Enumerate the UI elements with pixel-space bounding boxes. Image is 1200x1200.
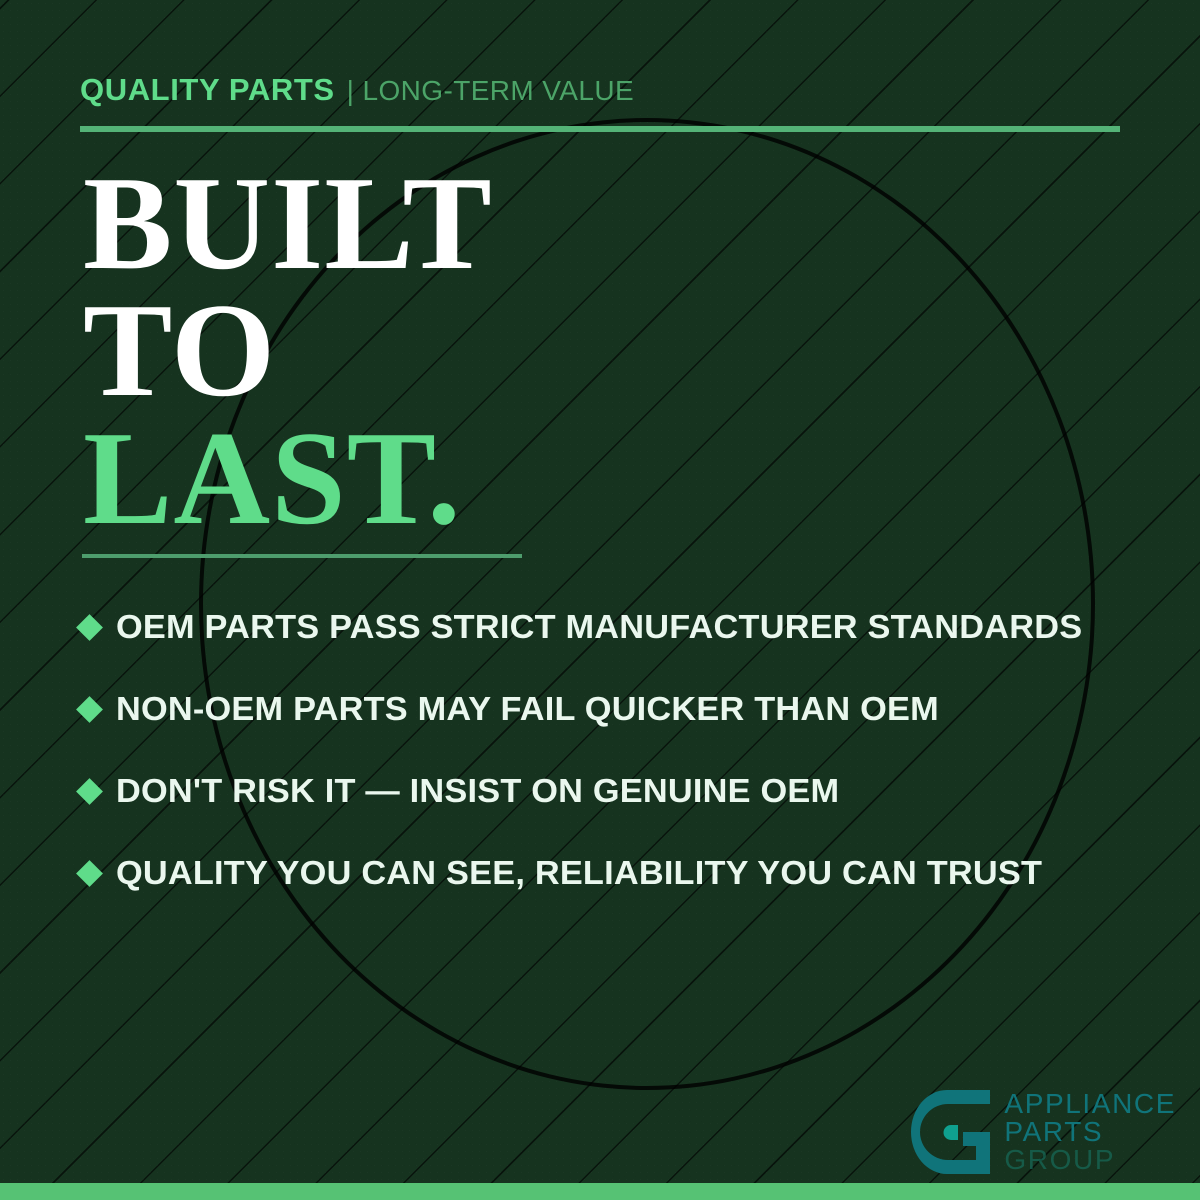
headline-line-3: LAST. (83, 415, 493, 542)
headline-divider-rule (82, 554, 522, 558)
list-item-label: QUALITY YOU CAN SEE, RELIABILITY YOU CAN… (116, 854, 1042, 892)
list-item: NON-OEM PARTS MAY FAIL QUICKER THAN OEM (80, 668, 1160, 750)
diamond-bullet-icon (76, 860, 103, 887)
headline-line-2: TO (83, 287, 493, 414)
g-monogram-icon (907, 1086, 993, 1178)
headline-line-1: BUILT (83, 160, 493, 287)
list-item-label: NON-OEM PARTS MAY FAIL QUICKER THAN OEM (116, 690, 939, 728)
brand-word-2: PARTS (1004, 1118, 1176, 1146)
promo-poster: QUALITY PARTS | LONG-TERM VALUE BUILT TO… (0, 0, 1200, 1200)
header-divider-rule (80, 126, 1120, 132)
brand-wordmark: APPLIANCE PARTS GROUP (1004, 1090, 1176, 1174)
brand-logo: APPLIANCE PARTS GROUP (907, 1086, 1176, 1178)
kicker-header: QUALITY PARTS | LONG-TERM VALUE (80, 72, 634, 108)
list-item: DON'T RISK IT — INSIST ON GENUINE OEM (80, 750, 1160, 832)
list-item: OEM PARTS PASS STRICT MANUFACTURER STAND… (80, 586, 1160, 668)
brand-word-3: GROUP (1004, 1146, 1176, 1174)
kicker-main-label: QUALITY PARTS (80, 72, 335, 108)
bottom-accent-bar (0, 1183, 1200, 1200)
diamond-bullet-icon (76, 614, 103, 641)
diamond-bullet-icon (76, 696, 103, 723)
list-item-label: OEM PARTS PASS STRICT MANUFACTURER STAND… (116, 608, 1082, 646)
headline-block: BUILT TO LAST. (83, 160, 493, 542)
list-item: QUALITY YOU CAN SEE, RELIABILITY YOU CAN… (80, 832, 1160, 914)
benefits-list: OEM PARTS PASS STRICT MANUFACTURER STAND… (80, 586, 1160, 914)
list-item-label: DON'T RISK IT — INSIST ON GENUINE OEM (116, 772, 839, 810)
diamond-bullet-icon (76, 778, 103, 805)
kicker-sub-label: | LONG-TERM VALUE (347, 75, 634, 107)
brand-word-1: APPLIANCE (1004, 1090, 1176, 1118)
